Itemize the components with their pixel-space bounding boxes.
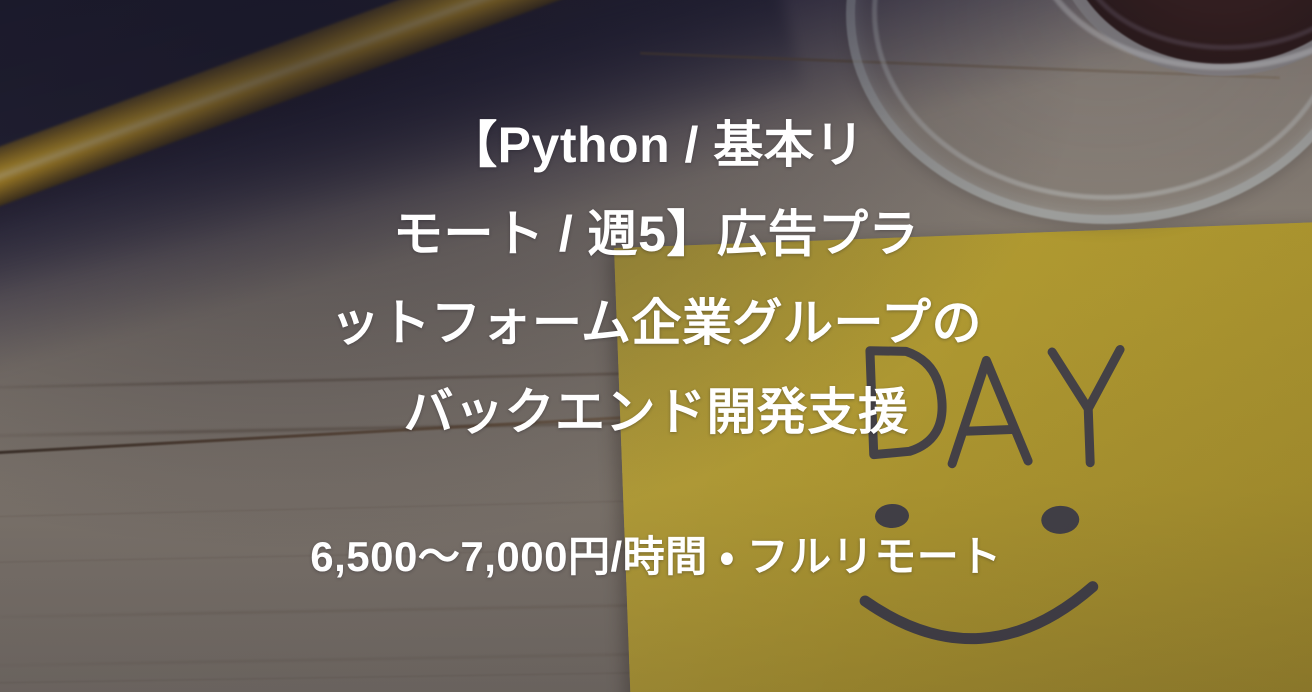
letter-a <box>948 359 1028 464</box>
letter-d <box>870 348 944 454</box>
sticky-note-drawing <box>614 220 1312 692</box>
job-posting-banner: 【Python / 基本リ モート / 週5】広告プラ ットフォーム企業グループ… <box>0 0 1312 692</box>
background-photo <box>0 0 1312 692</box>
smiley-eye-right <box>1041 505 1080 534</box>
smiley-mouth <box>865 587 1095 643</box>
letter-y <box>1052 350 1124 464</box>
smiley-eye-left <box>875 503 910 528</box>
